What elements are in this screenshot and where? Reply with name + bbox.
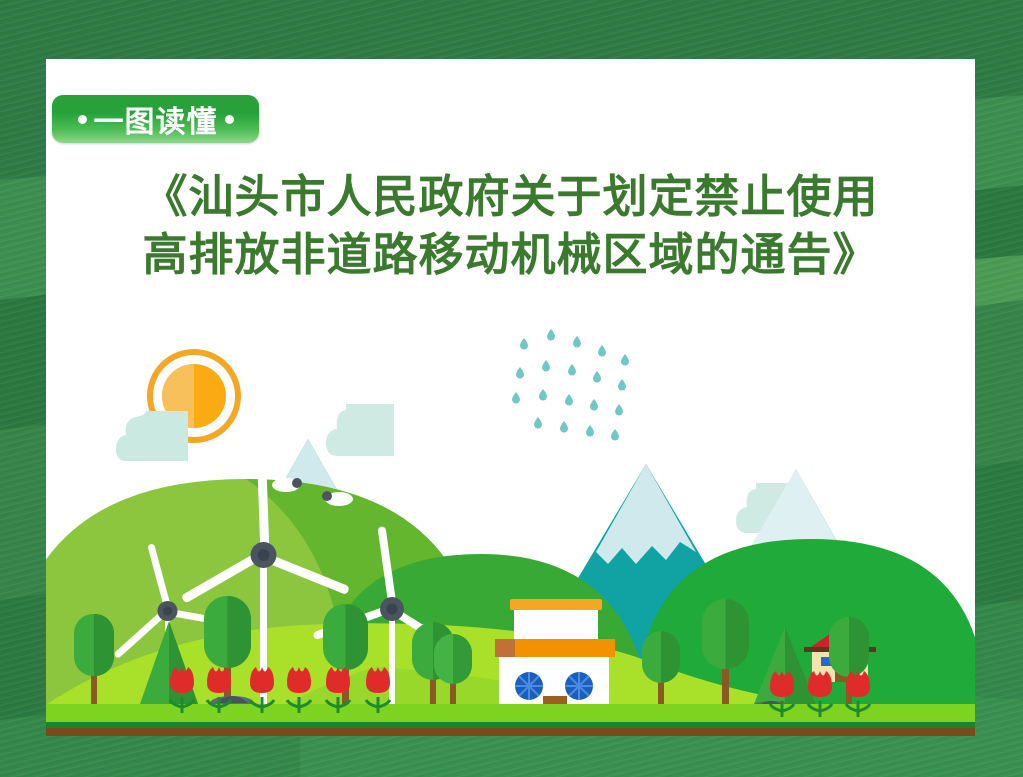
- badge-dot-right: [225, 115, 234, 124]
- ground-dark-strip: [46, 722, 975, 729]
- infographic-badge: 一图读懂: [52, 95, 259, 143]
- cloud-left-icon: [116, 411, 188, 461]
- content-card: [46, 59, 975, 736]
- title-line-1: 《汕头市人民政府关于划定禁止使用: [46, 168, 975, 226]
- page-title: 《汕头市人民政府关于划定禁止使用 高排放非道路移动机械区域的通告》: [46, 168, 975, 284]
- badge-label: 一图读懂: [94, 97, 218, 141]
- ground-soil-strip: [46, 728, 975, 736]
- eco-landscape-illustration: [46, 59, 975, 736]
- badge-dot-left: [78, 115, 87, 124]
- title-line-2: 高排放非道路移动机械区域的通告》: [46, 226, 975, 284]
- poster-root: 一图读懂 《汕头市人民政府关于划定禁止使用 高排放非道路移动机械区域的通告》: [0, 0, 1023, 777]
- rain-drops-icon: [512, 329, 629, 441]
- cloud-mid-icon: [326, 404, 394, 456]
